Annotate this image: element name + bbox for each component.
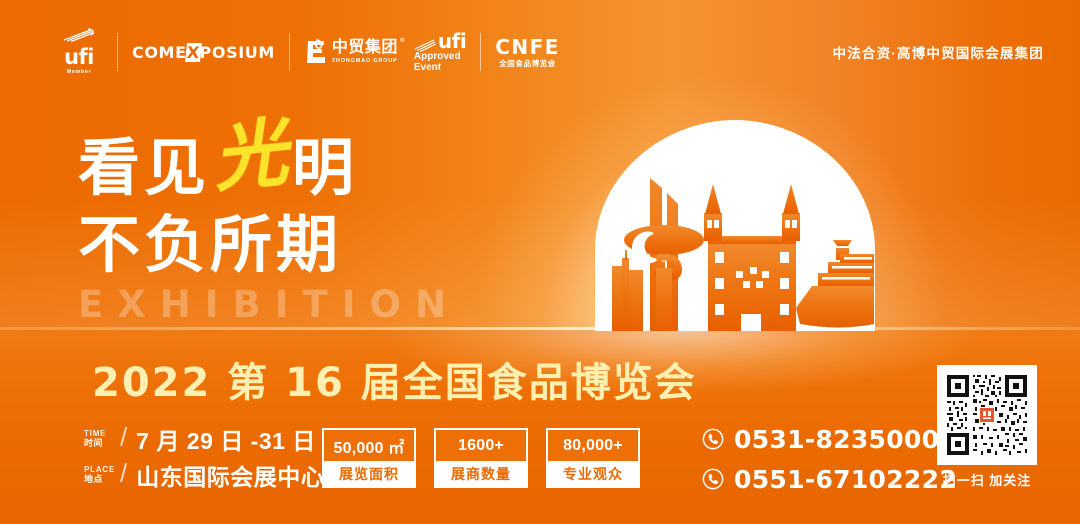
zhongmao-cn: 中贸集团® xyxy=(332,40,398,56)
zhongmao-en: ZHONGMAO GROUP xyxy=(332,59,398,65)
exhibition-watermark: EXHIBITION xyxy=(78,283,460,326)
headline-block: 看见 光 明 不负所期 xyxy=(78,128,358,275)
cnfe-cn: 全国食品博览会 xyxy=(495,60,560,68)
ufi-approved-line2: Approved xyxy=(414,52,466,63)
comexposium-x: X xyxy=(185,43,202,62)
logo-divider-1 xyxy=(117,33,118,71)
qr-code-icon[interactable] xyxy=(937,365,1037,465)
meta-tag-place: PLACE 地点 xyxy=(84,466,118,485)
ufi-wordmark: ufi xyxy=(62,47,96,68)
logo-cnfe: CNFE 全国食品博览会 xyxy=(495,37,560,68)
qr-caption: 扫一扫 加关注 xyxy=(937,470,1037,489)
ufi-member-sub: Member xyxy=(62,70,96,76)
meta-slash-icon: / xyxy=(120,422,127,453)
logo-divider-2 xyxy=(289,33,290,71)
exhibition-banner: ufi Member COMEXPOSIUM 中贸集团® ZHONGMAO GR… xyxy=(0,0,1080,524)
meta-slash-icon: / xyxy=(120,458,127,489)
partner-logo-bar: ufi Member COMEXPOSIUM 中贸集团® ZHONGMAO GR… xyxy=(55,26,560,78)
headline-line-1: 看见 光 明 xyxy=(78,128,358,201)
ufi-swoosh-icon xyxy=(414,38,436,52)
qr-block: 扫一扫 加关注 xyxy=(937,365,1037,489)
zhongmao-mark-icon xyxy=(304,39,328,65)
ufi-approved-wordmark: ufi xyxy=(438,31,466,52)
meta-tag-time: TIME 时间 xyxy=(84,430,118,449)
event-meta: TIME 时间 / 7 月 29 日 -31 日 PLACE 地点 / 山东国际… xyxy=(84,424,324,490)
headline-line1-a: 看见 xyxy=(78,138,210,199)
phone-row[interactable]: 0531-82350000 xyxy=(702,422,957,456)
phone-icon xyxy=(702,468,724,490)
meta-time-label-cn: 时间 xyxy=(84,439,118,448)
corporate-name: 中法合资·高博中贸国际会展集团 xyxy=(833,42,1045,62)
stat-value: 1600+ xyxy=(436,430,526,461)
phone-number: 0531-82350000 xyxy=(734,425,957,454)
headline-line1-b: 明 xyxy=(292,138,358,199)
stat-card: 50,000 ㎡ 展览面积 xyxy=(322,428,416,488)
stat-value: 50,000 ㎡ xyxy=(324,430,414,461)
stat-card: 80,000+ 专业观众 xyxy=(546,428,640,488)
logo-ufi-member: ufi Member xyxy=(55,28,103,76)
comexposium-part2: POSIUM xyxy=(200,43,275,62)
headline-line-2: 不负所期 xyxy=(78,215,358,276)
meta-time-value: 7 月 29 日 -31 日 xyxy=(136,422,316,456)
comexposium-part1: COME xyxy=(132,43,187,62)
stats-group: 50,000 ㎡ 展览面积 1600+ 展商数量 80,000+ 专业观众 xyxy=(322,428,640,488)
stat-label: 展览面积 xyxy=(324,461,414,486)
logo-ufi-approved-event: ufi Approved Event xyxy=(414,31,466,73)
headline-line2-text: 不负所期 xyxy=(78,215,342,276)
stat-card: 1600+ 展商数量 xyxy=(434,428,528,488)
contact-phones: 0531-82350000 0551-67102222 xyxy=(702,422,957,496)
logo-comexposium: COMEXPOSIUM xyxy=(132,43,275,62)
logo-zhongmao-group: 中贸集团® ZHONGMAO GROUP xyxy=(304,39,398,65)
meta-place-label-cn: 地点 xyxy=(84,475,118,484)
meta-row-place: PLACE 地点 / 山东国际会展中心 xyxy=(84,460,324,490)
phone-number: 0551-67102222 xyxy=(734,465,957,494)
stat-label: 展商数量 xyxy=(436,461,526,486)
horizon-line xyxy=(0,327,1080,330)
meta-place-value: 山东国际会展中心 xyxy=(136,458,324,492)
page-title: 2022 第 16 届全国食品博览会 xyxy=(92,350,697,408)
meta-time-label-en: TIME xyxy=(84,430,118,438)
meta-place-label-en: PLACE xyxy=(84,466,118,474)
stat-value: 80,000+ xyxy=(548,430,638,461)
phone-row[interactable]: 0551-67102222 xyxy=(702,462,957,496)
logo-divider-3 xyxy=(480,33,481,71)
city-skyline-sun-icon xyxy=(590,118,880,333)
headline-accent-char: 光 xyxy=(210,116,293,196)
meta-row-time: TIME 时间 / 7 月 29 日 -31 日 xyxy=(84,424,324,454)
phone-icon xyxy=(702,428,724,450)
ufi-swoosh-icon xyxy=(62,28,96,42)
cnfe-en: CNFE xyxy=(495,37,560,57)
ufi-approved-line3: Event xyxy=(414,63,466,74)
stat-label: 专业观众 xyxy=(548,461,638,486)
